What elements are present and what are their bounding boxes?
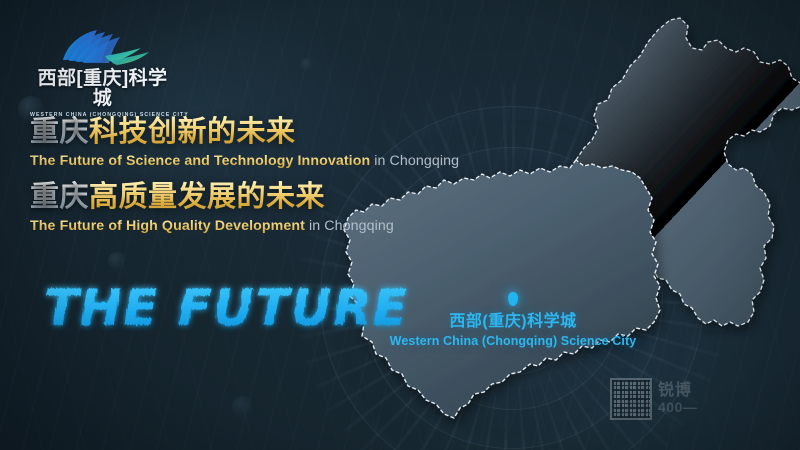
hero-slogan-text: THE FUTURE xyxy=(44,279,409,337)
headline-secondary-en-highlight: The Future of High Quality Development xyxy=(30,218,305,234)
headline-secondary-en-plain: in Chongqing xyxy=(305,218,394,234)
headline-primary-cn: 重庆科技创新的未来 xyxy=(30,116,459,149)
map-caption: 西部(重庆)科学城 Western China (Chongqing) Scie… xyxy=(378,312,648,350)
headline-primary: 重庆科技创新的未来 The Future of Science and Tech… xyxy=(30,116,459,169)
background-bokeh-dot xyxy=(300,58,314,72)
map-caption-cn: 西部(重庆)科学城 xyxy=(378,312,648,332)
watermark-brand: 锐博 xyxy=(658,383,697,400)
background-bokeh-dot xyxy=(766,120,782,136)
chongqing-map xyxy=(340,8,800,448)
headline-secondary-en: The Future of High Quality Development i… xyxy=(30,218,394,234)
location-pin-icon[interactable] xyxy=(508,292,518,306)
qr-code-pattern xyxy=(612,380,650,418)
hero-slogan: THE FUTURE xyxy=(42,278,362,340)
qr-code-icon xyxy=(610,378,652,420)
headline-primary-en-plain: in Chongqing xyxy=(370,153,459,169)
brand-logo[interactable]: 西部[重庆]科学城 WESTERN CHINA (CHONGQING) SCIE… xyxy=(30,26,175,118)
background-bokeh-dot xyxy=(232,396,254,418)
background-bokeh-dot xyxy=(108,252,126,270)
headline-primary-cn-city: 重庆 xyxy=(30,116,89,148)
watermark-text: 锐博 400— xyxy=(658,383,697,414)
headline-primary-cn-highlight: 科技创新的未来 xyxy=(89,116,296,148)
map-caption-en: Western China (Chongqing) Science City xyxy=(378,333,648,350)
headline-primary-en-highlight: The Future of Science and Technology Inn… xyxy=(30,153,370,169)
hero-slogan-brush-text: THE FUTURE xyxy=(42,278,362,340)
poster-canvas: 西部(重庆)科学城 Western China (Chongqing) Scie… xyxy=(0,0,800,450)
headline-primary-en: The Future of Science and Technology Inn… xyxy=(30,153,459,169)
headline-secondary-cn: 重庆高质量发展的未来 xyxy=(30,181,394,214)
science-city-fan-logo-icon xyxy=(53,26,153,68)
logo-wordmark: 西部[重庆]科学城 xyxy=(30,69,175,109)
location-pin-dot xyxy=(508,292,518,306)
background-glow-right xyxy=(384,189,800,450)
headline-secondary-cn-highlight: 高质量发展的未来 xyxy=(89,181,325,213)
watermark-hotline: 400— xyxy=(658,400,697,415)
chongqing-province-map-icon xyxy=(340,8,800,448)
watermark: 锐博 400— xyxy=(610,378,697,420)
headline-secondary: 重庆高质量发展的未来 The Future of High Quality De… xyxy=(30,181,394,234)
headline-secondary-cn-city: 重庆 xyxy=(30,181,89,213)
